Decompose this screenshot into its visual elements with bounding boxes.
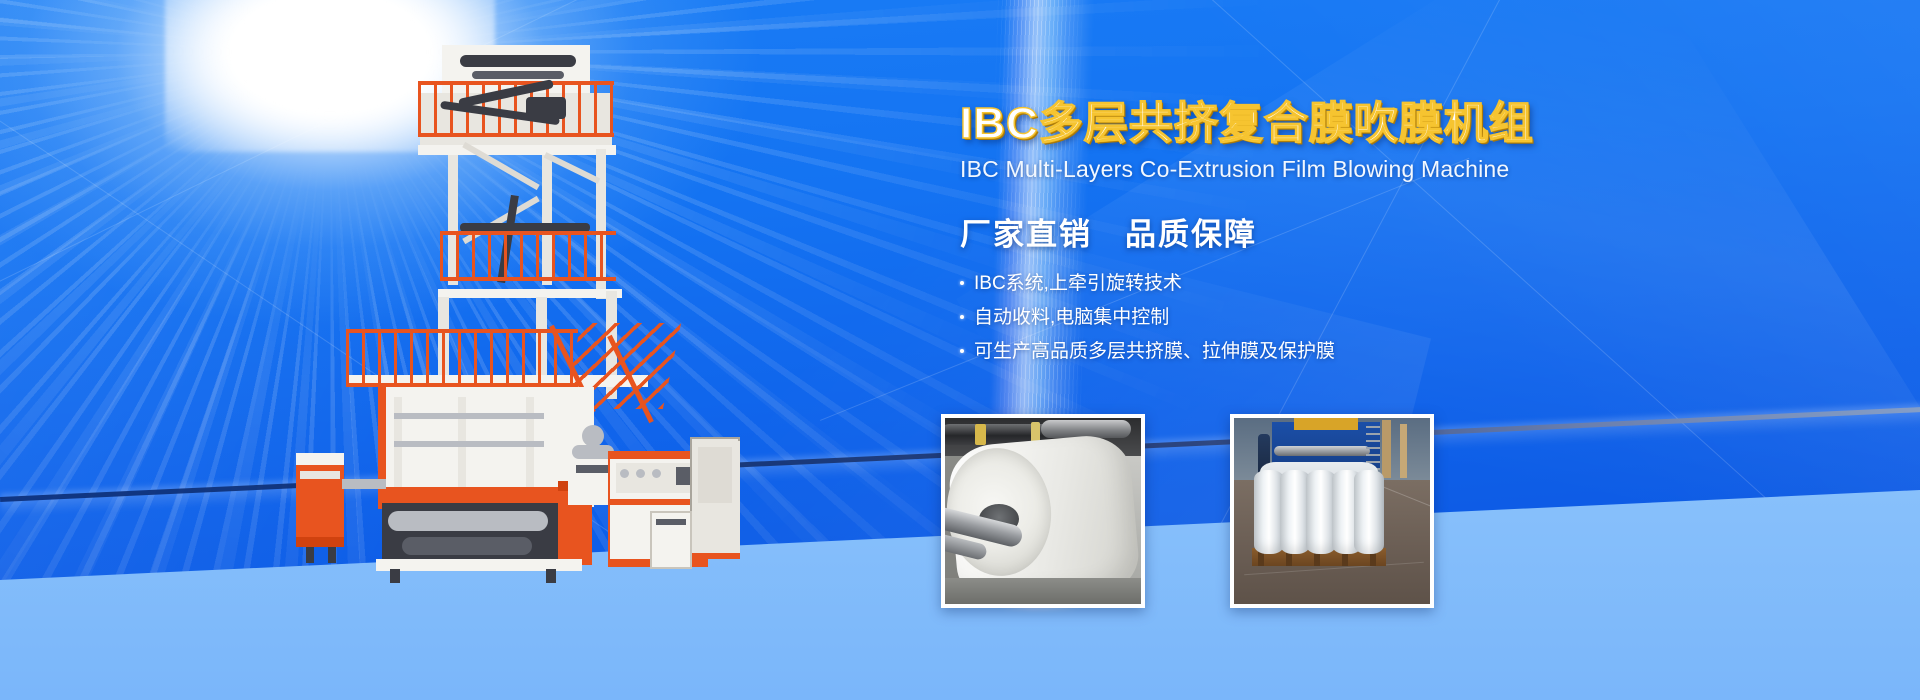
list-item: IBC系统,上牵引旋转技术 bbox=[960, 274, 1760, 293]
photo-roll-stack bbox=[1254, 470, 1382, 554]
product-photo-pallet bbox=[1230, 414, 1434, 608]
banner-copy: IBC多层共挤复合膜吹膜机组 IBC Multi-Layers Co-Extru… bbox=[960, 100, 1760, 376]
product-photo-film-roll bbox=[941, 414, 1145, 608]
photo-yellow-beam bbox=[1294, 418, 1358, 430]
photo-roller bbox=[1274, 446, 1370, 456]
bullet-dot-icon bbox=[960, 349, 964, 353]
product-banner: IBC多层共挤复合膜吹膜机组 IBC Multi-Layers Co-Extru… bbox=[0, 0, 1920, 700]
page-title: IBC多层共挤复合膜吹膜机组 bbox=[960, 100, 1760, 148]
list-item: 可生产高品质多层共挤膜、拉伸膜及保护膜 bbox=[960, 342, 1760, 361]
photo-tape-mark bbox=[975, 424, 986, 445]
feature-text: 自动收料,电脑集中控制 bbox=[974, 308, 1169, 327]
feature-text: IBC系统,上牵引旋转技术 bbox=[974, 274, 1182, 293]
photo-roll bbox=[1354, 470, 1384, 554]
machine-illustration bbox=[290, 45, 740, 565]
photo-column bbox=[1382, 420, 1391, 478]
list-item: 自动收料,电脑集中控制 bbox=[960, 308, 1760, 327]
feature-list: IBC系统,上牵引旋转技术 自动收料,电脑集中控制 可生产高品质多层共挤膜、拉伸… bbox=[960, 274, 1760, 361]
feature-text: 可生产高品质多层共挤膜、拉伸膜及保护膜 bbox=[974, 342, 1335, 361]
photo-column bbox=[1400, 424, 1407, 478]
bullet-dot-icon bbox=[960, 315, 964, 319]
photo-machine-base bbox=[945, 578, 1141, 604]
bullet-dot-icon bbox=[960, 281, 964, 285]
slogan: 厂家直销 品质保障 bbox=[960, 209, 1760, 254]
subtitle-english: IBC Multi-Layers Co-Extrusion Film Blowi… bbox=[960, 156, 1760, 183]
product-photo-gallery bbox=[941, 414, 1434, 608]
